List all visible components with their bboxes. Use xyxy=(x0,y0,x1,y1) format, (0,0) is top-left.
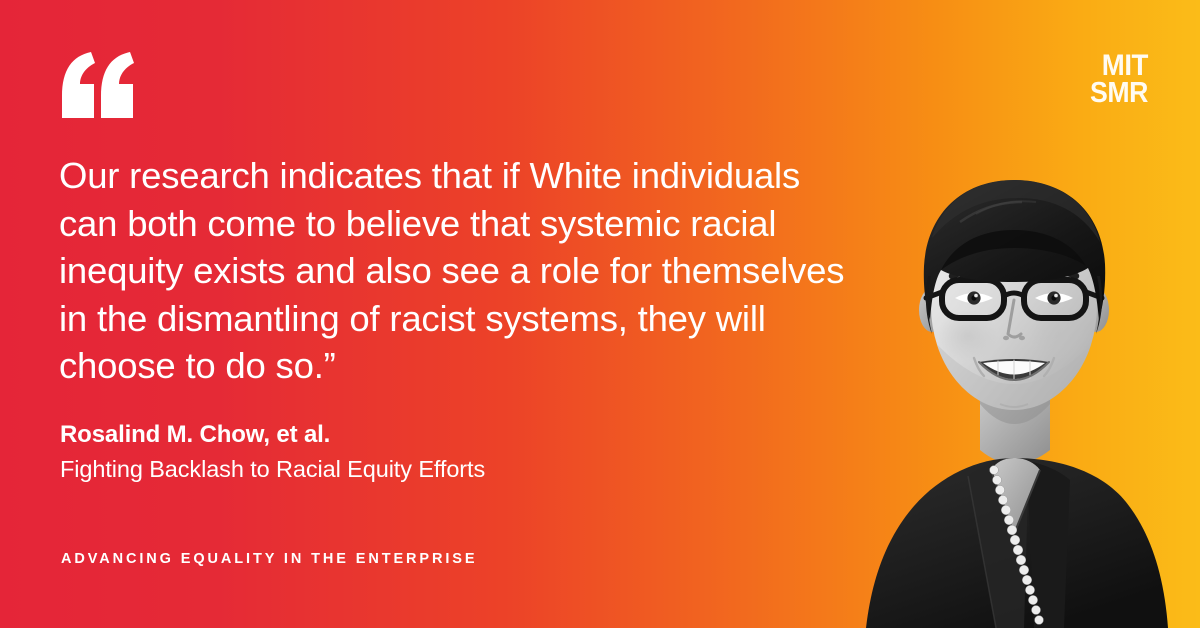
logo-line-smr: SMR xyxy=(1090,80,1148,107)
quote-card: Black-and-white portrait of Rosalind M. … xyxy=(0,0,1200,628)
series-tagline: Advancing Equality in the Enterprise xyxy=(61,551,477,567)
attribution: Rosalind M. Chow, et al. Fighting Backla… xyxy=(60,420,485,484)
open-quote-icon xyxy=(60,52,140,122)
logo-line-mit: MIT xyxy=(1090,52,1148,80)
quote-article-title[interactable]: Fighting Backlash to Racial Equity Effor… xyxy=(60,454,485,485)
quote-text: Our research indicates that if White ind… xyxy=(59,152,889,390)
quote-author: Rosalind M. Chow, et al. xyxy=(60,420,485,451)
portrait-ears xyxy=(919,288,1109,332)
portrait-hair xyxy=(924,180,1105,334)
portrait-smile xyxy=(974,358,1054,382)
portrait-body xyxy=(866,390,1168,628)
eyeglasses xyxy=(926,280,1102,318)
mit-smr-logo[interactable]: MIT SMR xyxy=(1090,52,1148,106)
portrait-face xyxy=(931,202,1097,410)
portrait-eyes xyxy=(955,291,1073,304)
pearl-necklace xyxy=(990,466,1044,625)
